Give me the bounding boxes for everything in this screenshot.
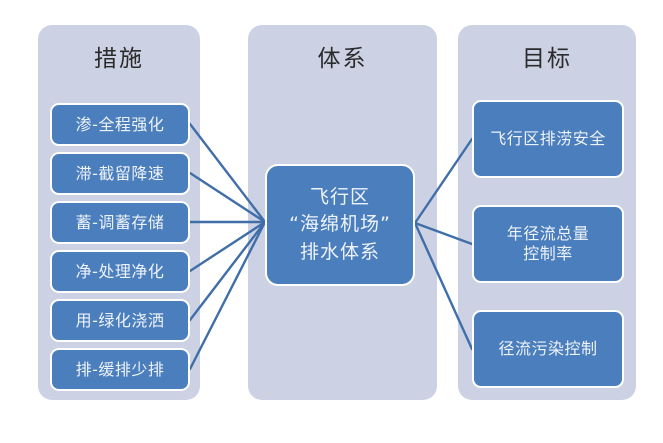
measure-node-3[interactable]: 蓄-调蓄存储 (50, 201, 190, 244)
panel-system-title: 体系 (248, 47, 437, 72)
measure-node-6-label: 排-缓排少排 (76, 360, 165, 380)
center-node-label: 飞行区 “海绵机场” 排水体系 (289, 184, 391, 267)
measure-node-6[interactable]: 排-缓排少排 (50, 348, 190, 391)
panel-measures-title: 措施 (38, 47, 200, 72)
measure-node-5-label: 用-绿化浇洒 (76, 311, 165, 331)
measure-node-5[interactable]: 用-绿化浇洒 (50, 299, 190, 342)
measure-node-2-label: 滞-截留降速 (76, 164, 165, 184)
goal-node-2[interactable]: 年径流总量 控制率 (472, 205, 624, 283)
measure-node-1-label: 渗-全程强化 (76, 115, 165, 135)
goal-node-1[interactable]: 飞行区排涝安全 (472, 100, 624, 178)
measure-node-4-label: 净-处理净化 (76, 262, 165, 282)
measure-node-3-label: 蓄-调蓄存储 (76, 213, 165, 233)
goal-node-3[interactable]: 径流污染控制 (472, 310, 624, 388)
diagram-canvas: 措施 体系 目标 渗-全程强化 滞-截留降速 蓄-调蓄存储 净-处理净化 用-绿… (0, 0, 663, 443)
center-node-sponge-airport-drainage-system[interactable]: 飞行区 “海绵机场” 排水体系 (265, 164, 415, 286)
measure-node-2[interactable]: 滞-截留降速 (50, 152, 190, 195)
measure-node-1[interactable]: 渗-全程强化 (50, 103, 190, 146)
goal-node-2-label: 年径流总量 控制率 (507, 224, 590, 263)
panel-goals-title: 目标 (458, 47, 636, 72)
goal-node-1-label: 飞行区排涝安全 (490, 129, 606, 149)
goal-node-3-label: 径流污染控制 (498, 339, 597, 359)
measure-node-4[interactable]: 净-处理净化 (50, 250, 190, 293)
